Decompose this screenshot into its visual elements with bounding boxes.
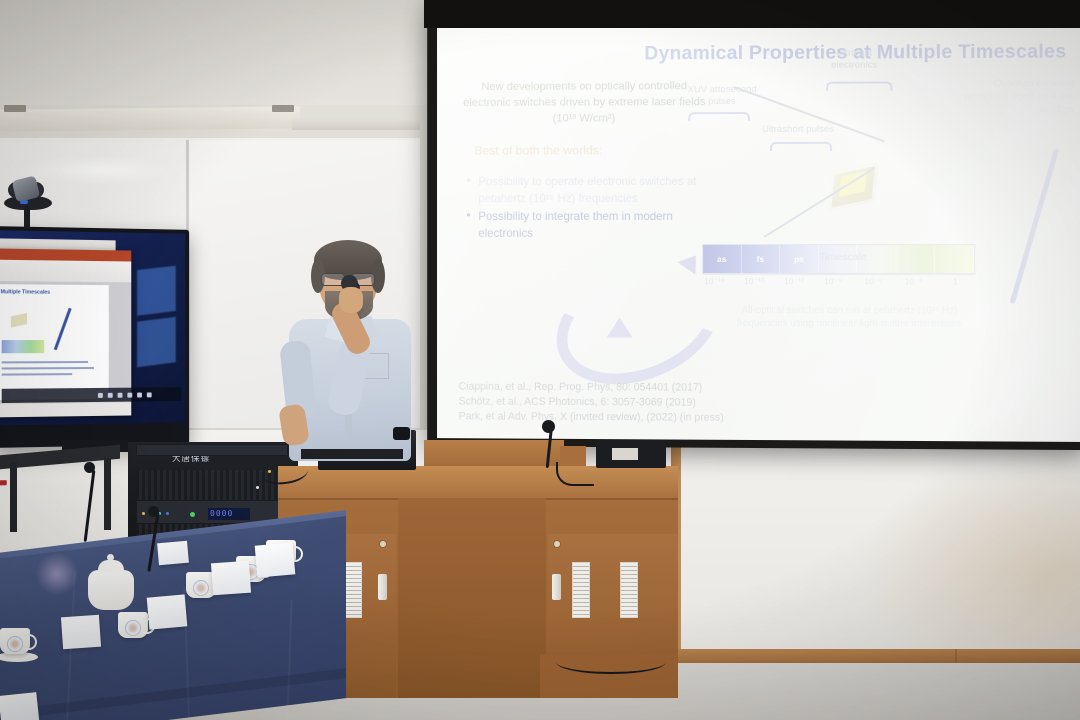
powerpoint-timescale-bar bbox=[2, 340, 45, 353]
slide-references: Ciappina, et al., Rep. Prog. Phys, 80: 0… bbox=[459, 380, 724, 426]
timescale-bar: as fs ps Timescale bbox=[702, 244, 975, 274]
teapot bbox=[88, 570, 134, 610]
mug bbox=[0, 628, 30, 654]
brace-ultrafast-icon bbox=[826, 81, 892, 90]
place-card bbox=[61, 615, 101, 650]
rack-status-led bbox=[256, 486, 259, 489]
rail-clip bbox=[272, 105, 294, 112]
vent-grille-icon bbox=[344, 562, 362, 618]
powerpoint-ribbon[interactable] bbox=[0, 260, 131, 284]
timescale-segment: as bbox=[703, 245, 741, 273]
task-view-icon[interactable] bbox=[118, 393, 123, 398]
mug bbox=[118, 612, 148, 638]
mug-logo-icon bbox=[7, 636, 23, 652]
door-handle[interactable] bbox=[378, 574, 387, 600]
reference-item: Ciappina, et al., Rep. Prog. Phys, 80: 0… bbox=[459, 380, 724, 396]
slide-canvas: Dynamical Properties at Multiple Timesca… bbox=[437, 24, 1080, 442]
mug-logo-icon bbox=[193, 580, 209, 596]
rack-status-led bbox=[142, 512, 145, 515]
brace-xuv-icon bbox=[688, 112, 750, 121]
podium-top-surface bbox=[278, 466, 678, 500]
blue-beam-graphic bbox=[1010, 148, 1060, 304]
diagram-label-ultrafast: Ultrafast electronics bbox=[816, 47, 892, 71]
brace-ultrashort-icon bbox=[770, 142, 832, 151]
rail-clip bbox=[4, 105, 26, 112]
slide-section-heading: Best of both the worlds: bbox=[474, 143, 602, 157]
timescale-tick: 10⁻¹² bbox=[784, 276, 804, 287]
timescale-segment: fs bbox=[742, 245, 781, 273]
rack-status-led bbox=[190, 512, 195, 517]
microphone-cable bbox=[556, 462, 594, 486]
place-card bbox=[255, 542, 296, 577]
wall-rail-secondary bbox=[292, 118, 420, 130]
timescale-segment bbox=[935, 245, 974, 273]
floor-cable bbox=[556, 650, 666, 674]
wristwatch-icon bbox=[393, 427, 410, 440]
place-card bbox=[147, 594, 188, 629]
timescale-tick-row: 10⁻¹⁸ 10⁻¹⁵ 10⁻¹² 10⁻⁹ 10⁻⁶ 10⁻³ 1 bbox=[702, 276, 975, 295]
reference-item: Park, et al Adv. Phys. X (invited review… bbox=[459, 409, 724, 425]
whiteboard-glare bbox=[20, 155, 170, 185]
timescale-tick: 10⁻⁹ bbox=[824, 276, 842, 287]
powerpoint-statusbar[interactable] bbox=[0, 402, 131, 418]
teapot-lid bbox=[98, 560, 124, 572]
camera-stem bbox=[24, 206, 30, 228]
camera-indicator bbox=[20, 200, 28, 204]
powerpoint-chip-icon bbox=[11, 313, 27, 328]
place-card bbox=[211, 561, 251, 596]
slide-bullet-list: Possibility to operate electronic switch… bbox=[465, 174, 698, 244]
screen-top-frame bbox=[424, 0, 1080, 28]
table-leg bbox=[104, 458, 111, 530]
powerpoint-text-line bbox=[2, 361, 88, 363]
slide-bottom-note: All-optical switches can run at petahert… bbox=[734, 304, 965, 331]
lens-flare bbox=[36, 552, 78, 596]
vent-grille-icon bbox=[620, 562, 638, 618]
door-handle[interactable] bbox=[552, 574, 561, 600]
diagram-label-xuv: XUV attosecond pulses bbox=[676, 84, 768, 108]
timescale-tick: 10⁻³ bbox=[905, 276, 922, 287]
display-monitor[interactable]: Multiple Timescales bbox=[0, 226, 189, 448]
monitor-screen[interactable]: Multiple Timescales bbox=[0, 230, 185, 425]
slide-lead-text: New developments on optically controlled… bbox=[457, 78, 712, 127]
mug-logo-icon bbox=[125, 620, 141, 636]
timescale-tick: 10⁻¹⁸ bbox=[704, 276, 725, 287]
powerpoint-slide-area[interactable]: Multiple Timescales bbox=[0, 281, 131, 403]
wall-light-glow bbox=[860, 455, 1080, 655]
ceiling-shadow bbox=[0, 0, 440, 105]
powerpoint-slide: Multiple Timescales bbox=[0, 284, 109, 400]
diagram-label-ultrashort: Ultrashort pulses bbox=[756, 124, 840, 136]
table-microphone-icon[interactable] bbox=[148, 506, 159, 517]
timescale-caption: Timescale bbox=[819, 251, 867, 263]
door-lock-icon[interactable] bbox=[380, 541, 386, 547]
search-icon[interactable] bbox=[108, 393, 113, 398]
presenter-hand bbox=[339, 287, 363, 313]
timescale-segment bbox=[896, 245, 935, 273]
powerpoint-text-line bbox=[2, 373, 73, 375]
timescale-tick: 10⁻⁶ bbox=[864, 276, 882, 287]
table-microphone-icon[interactable] bbox=[84, 462, 95, 473]
arrow-up-icon bbox=[607, 318, 633, 338]
gooseneck-microphone-icon[interactable] bbox=[542, 420, 555, 433]
edge-icon[interactable] bbox=[137, 393, 142, 398]
table-leg bbox=[10, 462, 17, 532]
explorer-icon[interactable] bbox=[127, 393, 132, 398]
store-icon[interactable] bbox=[147, 392, 152, 397]
rack-unit bbox=[136, 444, 288, 456]
start-icon[interactable] bbox=[98, 393, 103, 398]
projection-screen: Dynamical Properties at Multiple Timesca… bbox=[427, 0, 1080, 450]
slide-right-note: Quantum coherent processes occur on a fe… bbox=[961, 77, 1075, 117]
timescale-tick: 1 bbox=[953, 276, 958, 286]
presentation-photo: Dynamical Properties at Multiple Timesca… bbox=[0, 0, 1080, 720]
control-box-panel bbox=[612, 448, 638, 460]
timescale-axis: as fs ps Timescale 10⁻¹⁸ 10⁻¹⁵ 10⁻¹² 10⁻… bbox=[702, 244, 975, 294]
vent-grille-icon bbox=[572, 562, 590, 618]
slide-bullet: Possibility to integrate them in modern … bbox=[465, 209, 698, 242]
timescale-segment: ps bbox=[780, 245, 819, 273]
wall-rail bbox=[0, 106, 300, 131]
door-lock-icon[interactable] bbox=[554, 541, 560, 547]
monitor-power-led bbox=[0, 480, 7, 485]
presenter bbox=[283, 245, 423, 460]
windows-taskbar[interactable] bbox=[2, 387, 182, 403]
podium-panel-center bbox=[398, 498, 546, 698]
powerpoint-beam-graphic bbox=[54, 308, 72, 351]
slide-bullet: Possibility to operate electronic switch… bbox=[465, 174, 698, 207]
rack-display-value: 0000 bbox=[210, 509, 233, 518]
presenter-belt bbox=[301, 449, 403, 459]
teapot-knob bbox=[107, 554, 114, 561]
powerpoint-slide-heading: Multiple Timescales bbox=[1, 289, 50, 295]
place-card bbox=[0, 692, 40, 720]
timescale-tick: 10⁻¹⁵ bbox=[744, 276, 765, 287]
reference-item: Schötz, et al., ACS Photonics, 6: 3057-3… bbox=[459, 395, 724, 411]
place-card bbox=[157, 541, 189, 566]
rack-status-led bbox=[166, 512, 169, 515]
powerpoint-text-line bbox=[2, 367, 94, 370]
